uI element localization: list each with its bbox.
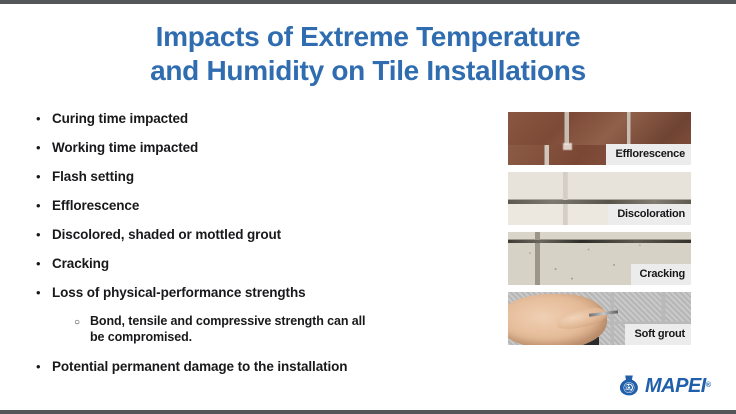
vertical-grout-joint: [563, 172, 567, 225]
panel-caption: Cracking: [631, 264, 691, 285]
list-item-label: Potential permanent damage to the instal…: [52, 358, 347, 375]
slide-title-line-1: Impacts of Extreme Temperature: [0, 20, 736, 54]
panel-caption: Efflorescence: [606, 144, 691, 165]
list-item-label: Working time impacted: [52, 139, 198, 156]
sub-list-item: ○ Bond, tensile and compressive strength…: [36, 313, 476, 345]
list-item: • Discolored, shaded or mottled grout: [36, 226, 476, 243]
letterbox-bar-top: [0, 0, 736, 4]
mapei-logo: MAPEI ®: [618, 374, 711, 397]
panel-caption: Soft grout: [625, 324, 691, 345]
list-item-label: Discolored, shaded or mottled grout: [52, 226, 281, 243]
efflorescence-deposit: [563, 143, 572, 150]
list-item-label: Efflorescence: [52, 197, 139, 214]
bullet-marker-icon: •: [36, 110, 52, 127]
trademark-symbol: ®: [706, 382, 711, 389]
list-item: • Curing time impacted: [36, 110, 476, 127]
list-item: • Working time impacted: [36, 139, 476, 156]
mapei-wordmark: MAPEI: [645, 376, 706, 396]
sub-list-item-label: Bond, tensile and compressive strength c…: [90, 313, 380, 345]
slide-canvas: Impacts of Extreme Temperature and Humid…: [0, 0, 736, 414]
bullet-marker-icon: •: [36, 255, 52, 272]
mapei-bag-icon: [618, 374, 640, 397]
list-item: • Efflorescence: [36, 197, 476, 214]
list-item: • Flash setting: [36, 168, 476, 185]
list-item: • Cracking: [36, 255, 476, 272]
bullet-marker-icon: •: [36, 168, 52, 185]
panel-caption: Discoloration: [608, 204, 691, 225]
bullet-list: • Curing time impacted • Working time im…: [36, 110, 476, 387]
list-item: • Loss of physical-performance strengths: [36, 284, 476, 301]
panel-efflorescence: Efflorescence: [508, 112, 691, 165]
crack-line: [508, 240, 691, 242]
panel-cracking: Cracking: [508, 232, 691, 285]
list-item-label: Curing time impacted: [52, 110, 188, 127]
sub-bullet-marker-icon: ○: [74, 313, 90, 332]
slide-title-line-2: and Humidity on Tile Installations: [0, 54, 736, 88]
list-item-label: Loss of physical-performance strengths: [52, 284, 306, 301]
bullet-marker-icon: •: [36, 226, 52, 243]
letterbox-bar-bottom: [0, 410, 736, 414]
bullet-marker-icon: •: [36, 197, 52, 214]
bullet-marker-icon: •: [36, 284, 52, 301]
panel-discoloration: Discoloration: [508, 172, 691, 225]
bullet-marker-icon: •: [36, 358, 52, 375]
bullet-marker-icon: •: [36, 139, 52, 156]
slide-title: Impacts of Extreme Temperature and Humid…: [0, 20, 736, 88]
image-panel-stack: Efflorescence Discoloration Cracking: [508, 112, 691, 352]
list-item-label: Flash setting: [52, 168, 134, 185]
list-item-label: Cracking: [52, 255, 109, 272]
panel-soft-grout: Soft grout: [508, 292, 691, 345]
list-item: • Potential permanent damage to the inst…: [36, 358, 476, 375]
